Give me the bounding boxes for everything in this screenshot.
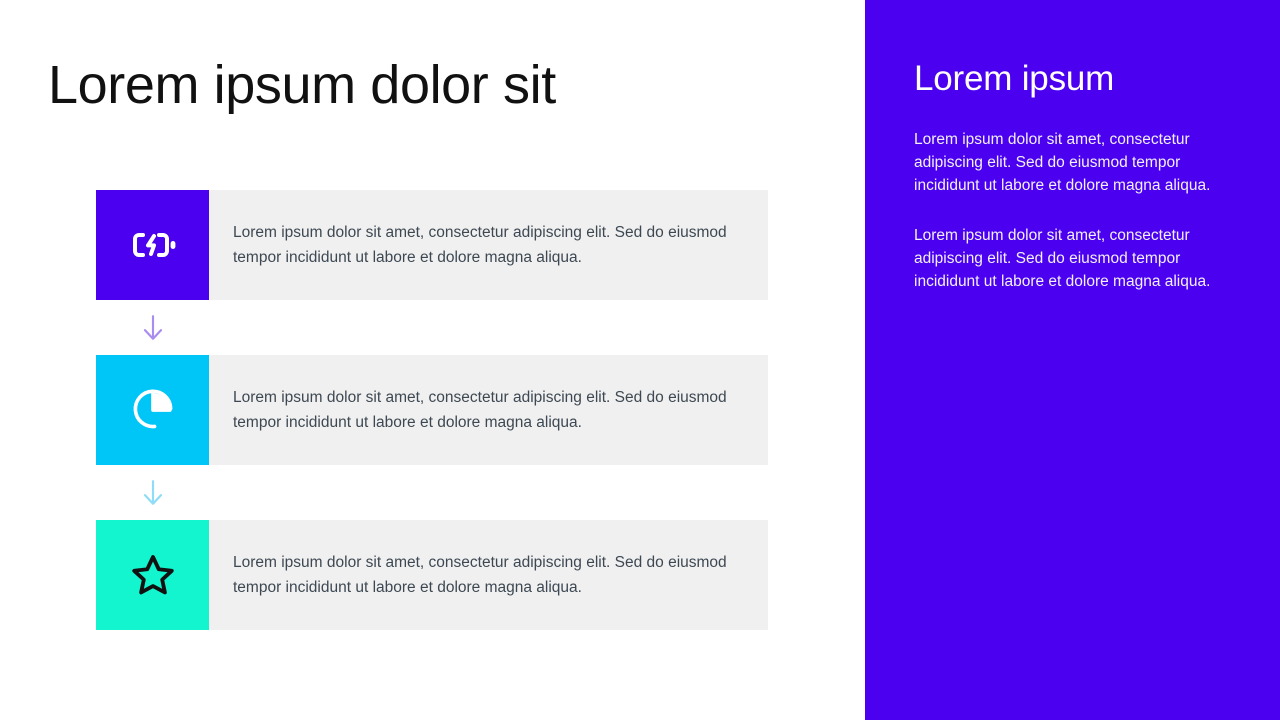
step-connector-1 bbox=[96, 300, 209, 355]
step-connector-2 bbox=[96, 465, 209, 520]
page-title: Lorem ipsum dolor sit bbox=[48, 52, 556, 118]
sidebar-title: Lorem ipsum bbox=[914, 56, 1114, 102]
pie-chart-icon bbox=[130, 387, 176, 433]
step-text-panel-3: Lorem ipsum dolor sit amet, consectetur … bbox=[209, 520, 768, 630]
arrow-down-icon bbox=[140, 478, 166, 508]
step-list: Lorem ipsum dolor sit amet, consectetur … bbox=[96, 190, 768, 630]
step-description: Lorem ipsum dolor sit amet, consectetur … bbox=[233, 220, 743, 271]
left-content-pane: Lorem ipsum dolor sit Lorem ipsum bbox=[0, 0, 865, 720]
step-row[interactable]: Lorem ipsum dolor sit amet, consectetur … bbox=[96, 520, 768, 630]
step-row[interactable]: Lorem ipsum dolor sit amet, consectetur … bbox=[96, 190, 768, 300]
star-icon bbox=[130, 552, 176, 598]
step-row[interactable]: Lorem ipsum dolor sit amet, consectetur … bbox=[96, 355, 768, 465]
step-text-panel-2: Lorem ipsum dolor sit amet, consectetur … bbox=[209, 355, 768, 465]
step-text-panel-1: Lorem ipsum dolor sit amet, consectetur … bbox=[209, 190, 768, 300]
step-icon-tile-2 bbox=[96, 355, 209, 465]
slide-canvas: Lorem ipsum dolor sit Lorem ipsum bbox=[0, 0, 1280, 720]
step-icon-tile-1 bbox=[96, 190, 209, 300]
battery-charging-icon bbox=[129, 221, 177, 269]
step-description: Lorem ipsum dolor sit amet, consectetur … bbox=[233, 550, 743, 601]
right-sidebar-panel: Lorem ipsum Lorem ipsum dolor sit amet, … bbox=[865, 0, 1280, 720]
arrow-down-icon bbox=[140, 313, 166, 343]
step-icon-tile-3 bbox=[96, 520, 209, 630]
sidebar-paragraph: Lorem ipsum dolor sit amet, consectetur … bbox=[914, 224, 1236, 293]
sidebar-paragraph: Lorem ipsum dolor sit amet, consectetur … bbox=[914, 128, 1236, 197]
step-description: Lorem ipsum dolor sit amet, consectetur … bbox=[233, 385, 743, 436]
sidebar-paragraphs: Lorem ipsum dolor sit amet, consectetur … bbox=[914, 128, 1236, 293]
